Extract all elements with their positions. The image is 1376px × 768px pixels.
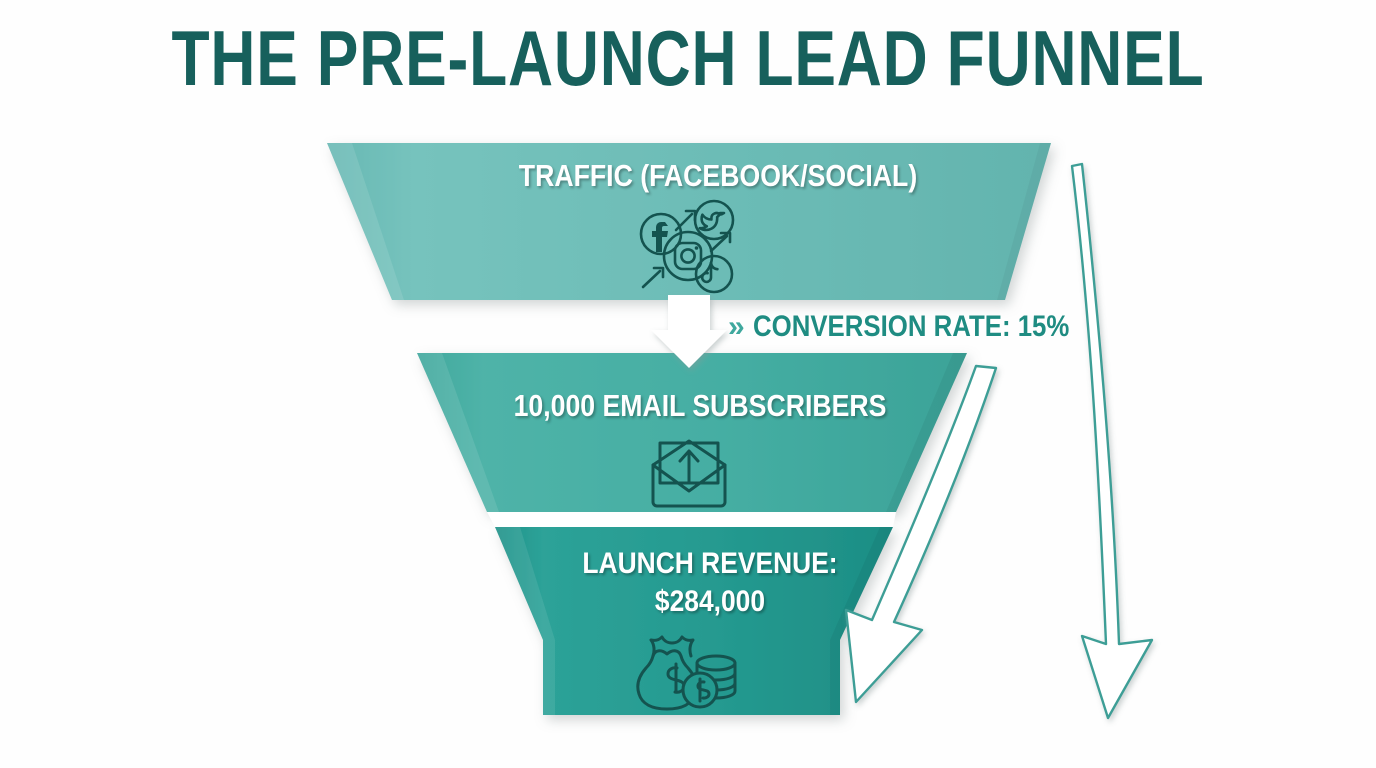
double-chevron-right-icon: » [728, 312, 743, 342]
long-down-arrow-icon [1072, 164, 1152, 718]
funnel-stage-traffic[interactable] [327, 143, 1051, 300]
stage-divider [487, 512, 896, 527]
conversion-rate-annotation: » CONVERSION RATE: 15% [728, 306, 1121, 348]
funnel-graphic [0, 0, 1376, 768]
funnel-infographic: THE PRE-LAUNCH LEAD FUNNEL [0, 0, 1376, 768]
conversion-rate-label: CONVERSION RATE: 15% [753, 310, 1069, 344]
